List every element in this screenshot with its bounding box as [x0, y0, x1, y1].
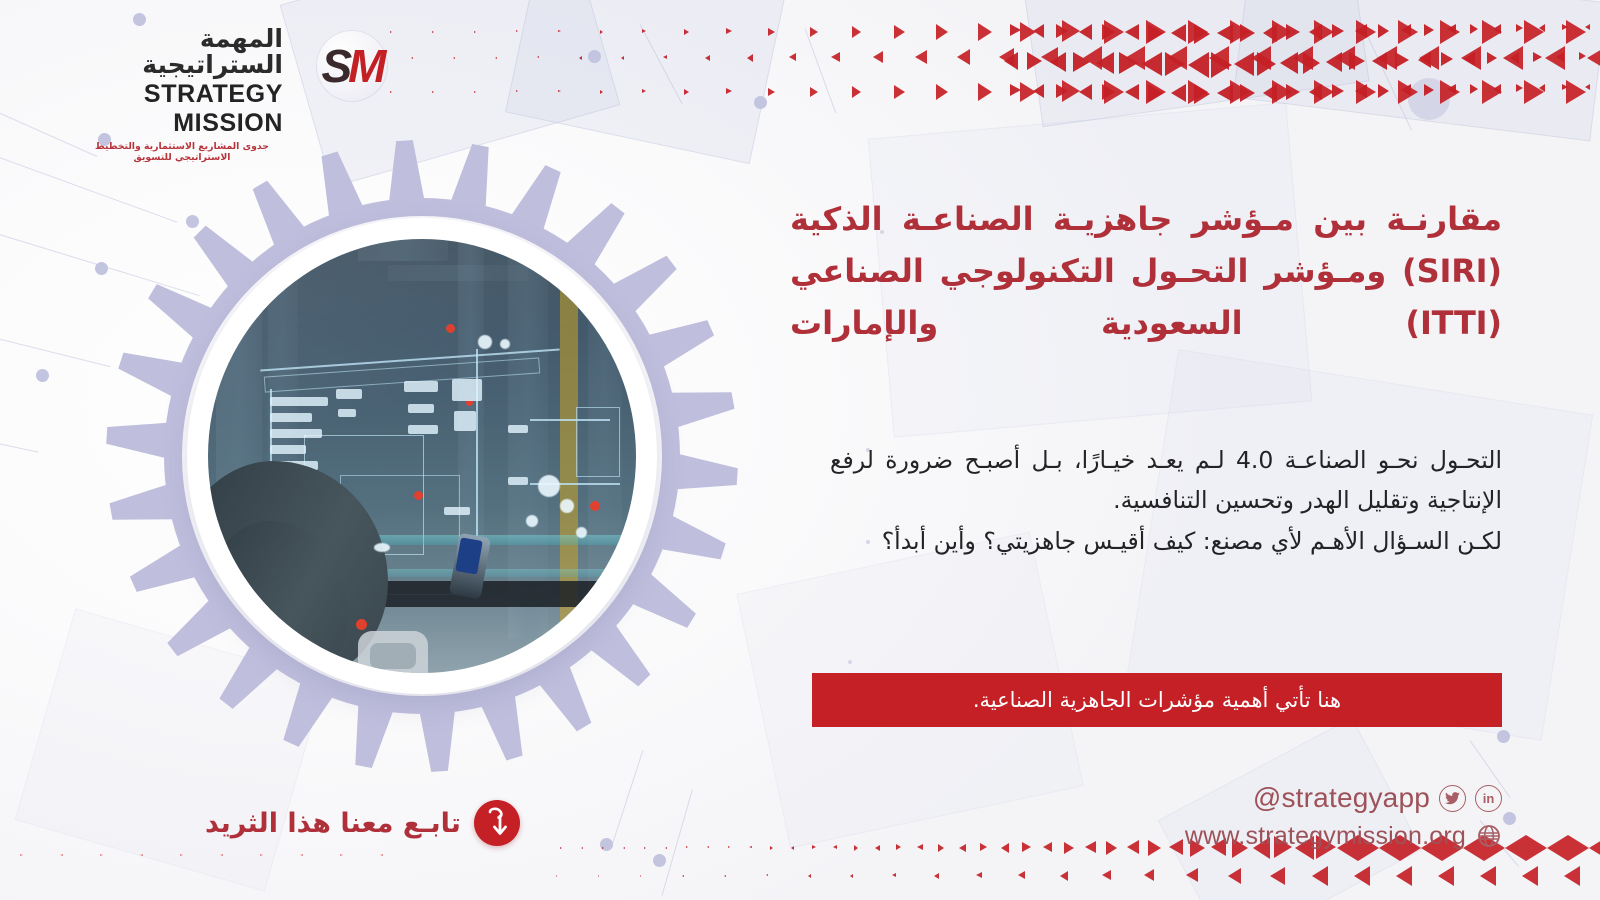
triangle-decor [598, 875, 599, 877]
triangle-decor [1309, 84, 1322, 100]
triangle-decor [20, 854, 23, 856]
triangle-decor [1522, 866, 1538, 886]
triangle-decor [1010, 24, 1021, 36]
triangle-decor [1033, 24, 1044, 38]
triangle-decor [1480, 866, 1496, 886]
triangle-decor [1001, 843, 1009, 853]
triangle-decor [1217, 24, 1233, 42]
triangle-decor [1033, 84, 1044, 98]
triangle-decor [453, 57, 455, 59]
triangle-decor [1043, 842, 1052, 852]
triangle-decor [1234, 52, 1254, 76]
decor-pin-line [0, 435, 38, 453]
triangle-decor [892, 873, 896, 877]
triangle-decor [936, 24, 948, 40]
triangle-decor [1418, 52, 1431, 68]
triangle-decor [873, 51, 883, 63]
triangle-decor [1438, 866, 1454, 886]
triangle-decor [1186, 868, 1198, 882]
triangle-decor [1102, 870, 1111, 880]
triangle-decor [1395, 52, 1409, 68]
triangle-decor [894, 85, 905, 99]
triangle-decor [915, 50, 927, 64]
triangle-decor [1355, 24, 1367, 38]
triangle-decor [1303, 52, 1320, 74]
decor-pin-dot [36, 369, 49, 382]
decor-pin-dot [1497, 730, 1510, 743]
triangle-decor [1148, 24, 1163, 42]
triangle-decor [474, 31, 476, 33]
poster-canvas: المهمة الستراتيجية STRATEGY MISSION جدوى… [0, 0, 1600, 900]
triangle-decor [100, 854, 103, 856]
triangle-decor [1566, 20, 1586, 44]
triangle-decor [1228, 868, 1241, 884]
triangle-decor [1079, 84, 1092, 100]
triangle-decor [959, 844, 966, 852]
triangle-decor [495, 57, 497, 59]
triangle-decor [747, 54, 753, 62]
triangle-decor [875, 845, 880, 851]
follow-thread-label: تابـع معنا هذا الثريد [205, 808, 461, 839]
triangle-decor [1447, 84, 1456, 94]
triangle-decor [978, 83, 992, 101]
triangle-decor [1579, 52, 1586, 60]
triangle-decor [640, 875, 641, 877]
triangle-decor [1240, 84, 1255, 102]
triangle-decor [1355, 84, 1367, 98]
triangle-decor [1102, 24, 1115, 40]
triangle-decor [260, 854, 263, 856]
footer-social: @strategyapp in www.strategymission.org [1172, 779, 1502, 855]
triangle-decor [621, 56, 624, 60]
triangle-decor [833, 845, 837, 849]
triangle-decor [1585, 24, 1590, 30]
triangle-decor [852, 26, 861, 38]
triangle-decor [1589, 835, 1600, 861]
triangle-decor [1516, 84, 1523, 92]
triangle-decor [1188, 52, 1209, 78]
triangle-decor [1401, 24, 1411, 36]
triangle-decor [1064, 842, 1074, 854]
triangle-decor [1547, 835, 1568, 861]
triangle-decor [340, 854, 343, 856]
triangle-decor [1556, 52, 1564, 62]
triangle-decor [1194, 84, 1210, 104]
triangle-decor [1125, 84, 1139, 100]
triangle-decor [1526, 835, 1547, 861]
linkedin-icon[interactable]: in [1475, 785, 1502, 812]
social-website-row[interactable]: www.strategymission.org [1172, 817, 1502, 855]
triangle-decor [850, 874, 853, 878]
body-copy: التحـول نحـو الصناعـة 4.0 لـم يعـد خيـار… [830, 440, 1502, 561]
triangle-decor [726, 28, 732, 34]
triangle-decor [1106, 841, 1117, 855]
triangle-decor [705, 55, 710, 61]
triangle-decor [1447, 24, 1456, 34]
triangle-decor [1470, 84, 1478, 94]
triangle-decor [770, 846, 773, 850]
triangle-decor [1493, 24, 1501, 34]
triangle-decor [812, 845, 816, 849]
triangle-decor [1470, 24, 1478, 34]
triangle-decor [556, 875, 557, 877]
triangle-decor [749, 846, 752, 848]
triangle-decor [1125, 24, 1139, 40]
triangle-decor [516, 90, 518, 92]
triangle-decor [1165, 52, 1185, 76]
triangle-decor [1263, 84, 1277, 102]
hero-photo [208, 239, 636, 673]
triangle-decor [380, 854, 383, 856]
triangle-decor [1127, 840, 1139, 854]
triangle-decor [1022, 842, 1031, 852]
triangle-decor [600, 90, 603, 94]
triangle-decor [600, 30, 603, 34]
triangle-decor [1085, 841, 1096, 853]
social-handle-row[interactable]: @strategyapp in [1172, 779, 1502, 817]
triangle-decor [768, 28, 775, 36]
triangle-decor [1148, 840, 1161, 856]
triangle-decor [768, 88, 775, 96]
triangle-decor [1257, 52, 1276, 76]
triangle-decor [579, 56, 582, 60]
triangle-decor [558, 30, 561, 32]
decor-dot [848, 660, 852, 664]
triangle-decor [1424, 84, 1434, 96]
triangle-decor [220, 854, 223, 856]
triangle-decor [808, 874, 811, 878]
triangle-decor [852, 86, 861, 98]
triangle-decor [896, 844, 901, 850]
triangle-decor [300, 854, 303, 856]
triangle-decor [724, 875, 726, 877]
follow-thread-cta[interactable]: تابـع معنا هذا الثريد [205, 800, 520, 846]
globe-icon[interactable] [1475, 823, 1502, 850]
gear-graphic [62, 96, 782, 816]
triangle-decor [726, 88, 732, 94]
triangle-decor [938, 844, 944, 852]
monogram-m: M [348, 39, 382, 93]
triangle-decor [1349, 52, 1365, 70]
triangle-decor [390, 31, 392, 33]
triangle-decor [1144, 869, 1154, 881]
body-paragraph-2: لكـن السـؤال الأهـم لأي مصنع: كيف أقيـس … [830, 521, 1502, 561]
triangle-decor [934, 873, 939, 879]
triangle-decor [894, 25, 905, 39]
triangle-decor [1270, 867, 1285, 885]
triangle-decor [1018, 871, 1025, 879]
triangle-decor [663, 55, 667, 59]
triangle-decor [1401, 84, 1411, 96]
triangle-decor [854, 845, 858, 851]
triangle-decor [1585, 84, 1590, 90]
triangle-decor [1378, 84, 1389, 98]
triangle-decor [1119, 52, 1138, 74]
triangle-decor [1286, 24, 1300, 40]
triangle-decor [684, 89, 689, 95]
triangle-decor [411, 57, 413, 59]
triangle-decor [1060, 871, 1068, 881]
triangle-decor [644, 847, 646, 849]
triangle-decor [1539, 84, 1545, 92]
triangle-decor [180, 854, 183, 856]
triangle-decor [140, 854, 143, 856]
triangle-decor [1568, 835, 1589, 861]
triangle-decor [1372, 52, 1387, 70]
triangle-decor [1056, 24, 1068, 38]
triangle-decor [432, 91, 434, 93]
triangle-decor [1539, 24, 1545, 32]
triangle-decor [917, 844, 923, 850]
social-handle: @strategyapp [1253, 782, 1430, 814]
triangle-decor [1217, 84, 1233, 102]
highlight-banner: هنا تأتي أهمية مؤشرات الجاهزية الصناعية. [812, 673, 1502, 727]
highlight-banner-text: هنا تأتي أهمية مؤشرات الجاهزية الصناعية. [973, 688, 1341, 712]
curved-down-arrow-icon[interactable] [474, 800, 520, 846]
sm-monogram-icon: S M [316, 30, 388, 102]
triangle-decor [1194, 24, 1210, 44]
triangle-decor [1056, 84, 1068, 98]
triangle-decor [1533, 52, 1542, 62]
triangle-decor [1280, 52, 1298, 74]
triangle-decor [560, 847, 562, 849]
triangle-decor [1263, 24, 1277, 42]
triangle-decor [1312, 866, 1328, 886]
triangle-decor [1424, 24, 1434, 36]
triangle-decor [665, 847, 667, 849]
triangle-decor [1566, 80, 1586, 104]
triangle-decor [980, 843, 987, 851]
triangle-decor [957, 49, 970, 65]
triangle-decor [1309, 24, 1322, 40]
triangle-decor [1079, 24, 1092, 40]
triangle-decor [474, 91, 476, 93]
triangle-decor [682, 875, 684, 877]
triangle-decor [1027, 52, 1042, 70]
triangle-decor [1240, 24, 1255, 42]
triangle-decor [1332, 84, 1344, 98]
triangle-decor [1171, 24, 1186, 42]
triangle-decor [1102, 84, 1115, 100]
triangle-decor [810, 87, 818, 97]
triangle-decor [642, 89, 646, 93]
triangle-decor [390, 91, 392, 93]
triangle-decor [686, 846, 688, 848]
triangle-decor [1004, 52, 1018, 70]
triangle-decor [978, 23, 992, 41]
triangle-decor [432, 31, 434, 33]
triangle-decor [1073, 52, 1090, 72]
triangle-decor [1564, 866, 1580, 886]
triangle-decor [976, 872, 982, 878]
triangle-decor [1378, 24, 1389, 38]
triangle-decor [516, 30, 518, 32]
triangle-decor [1332, 24, 1344, 38]
triangle-decor [791, 846, 794, 850]
triangle-decor [1396, 866, 1412, 886]
triangle-decor [831, 52, 840, 62]
triangle-decor [1510, 52, 1519, 64]
triangle-decor [1286, 84, 1300, 100]
website-url: www.strategymission.org [1185, 822, 1466, 851]
triangle-decor [602, 847, 604, 849]
triangle-decor [1505, 835, 1526, 861]
triangle-decor [789, 53, 796, 61]
page-title: مقارنـة بين مـؤشر جاهزيـة الصناعـة الذكي… [790, 193, 1502, 349]
triangle-decor [1142, 52, 1162, 76]
twitter-icon[interactable] [1439, 785, 1466, 812]
triangle-decor [1487, 52, 1497, 64]
triangle-decor [936, 84, 948, 100]
triangle-decor [728, 846, 730, 848]
triangle-decor [1562, 84, 1568, 90]
triangle-decor [1441, 52, 1453, 66]
triangle-decor [1562, 24, 1568, 30]
triangle-decor [1516, 24, 1523, 32]
triangle-decor [558, 90, 561, 92]
triangle-decor [1148, 84, 1163, 102]
brand-name-arabic: المهمة الستراتيجية [78, 26, 283, 79]
triangle-decor [1096, 52, 1114, 74]
triangle-decor [1050, 52, 1066, 72]
triangle-decor [1464, 52, 1475, 66]
monogram-s: S [321, 39, 348, 93]
triangle-decor [1171, 84, 1186, 102]
triangle-decor [642, 29, 646, 33]
body-paragraph-1: التحـول نحـو الصناعـة 4.0 لـم يعـد خيـار… [830, 440, 1502, 521]
triangle-decor [581, 847, 583, 849]
triangle-decor [537, 56, 539, 58]
triangle-decor [766, 874, 768, 876]
triangle-decor [60, 854, 63, 856]
triangle-decor [1587, 46, 1600, 70]
triangle-decor [684, 29, 689, 35]
triangle-decor [623, 847, 625, 849]
triangle-decor [1326, 52, 1342, 72]
triangle-decor [1354, 866, 1370, 886]
triangle-decor [707, 846, 709, 848]
triangle-decor [810, 27, 818, 37]
triangle-decor [1493, 84, 1501, 94]
triangle-decor [1010, 84, 1021, 96]
triangle-decor [1211, 52, 1232, 78]
